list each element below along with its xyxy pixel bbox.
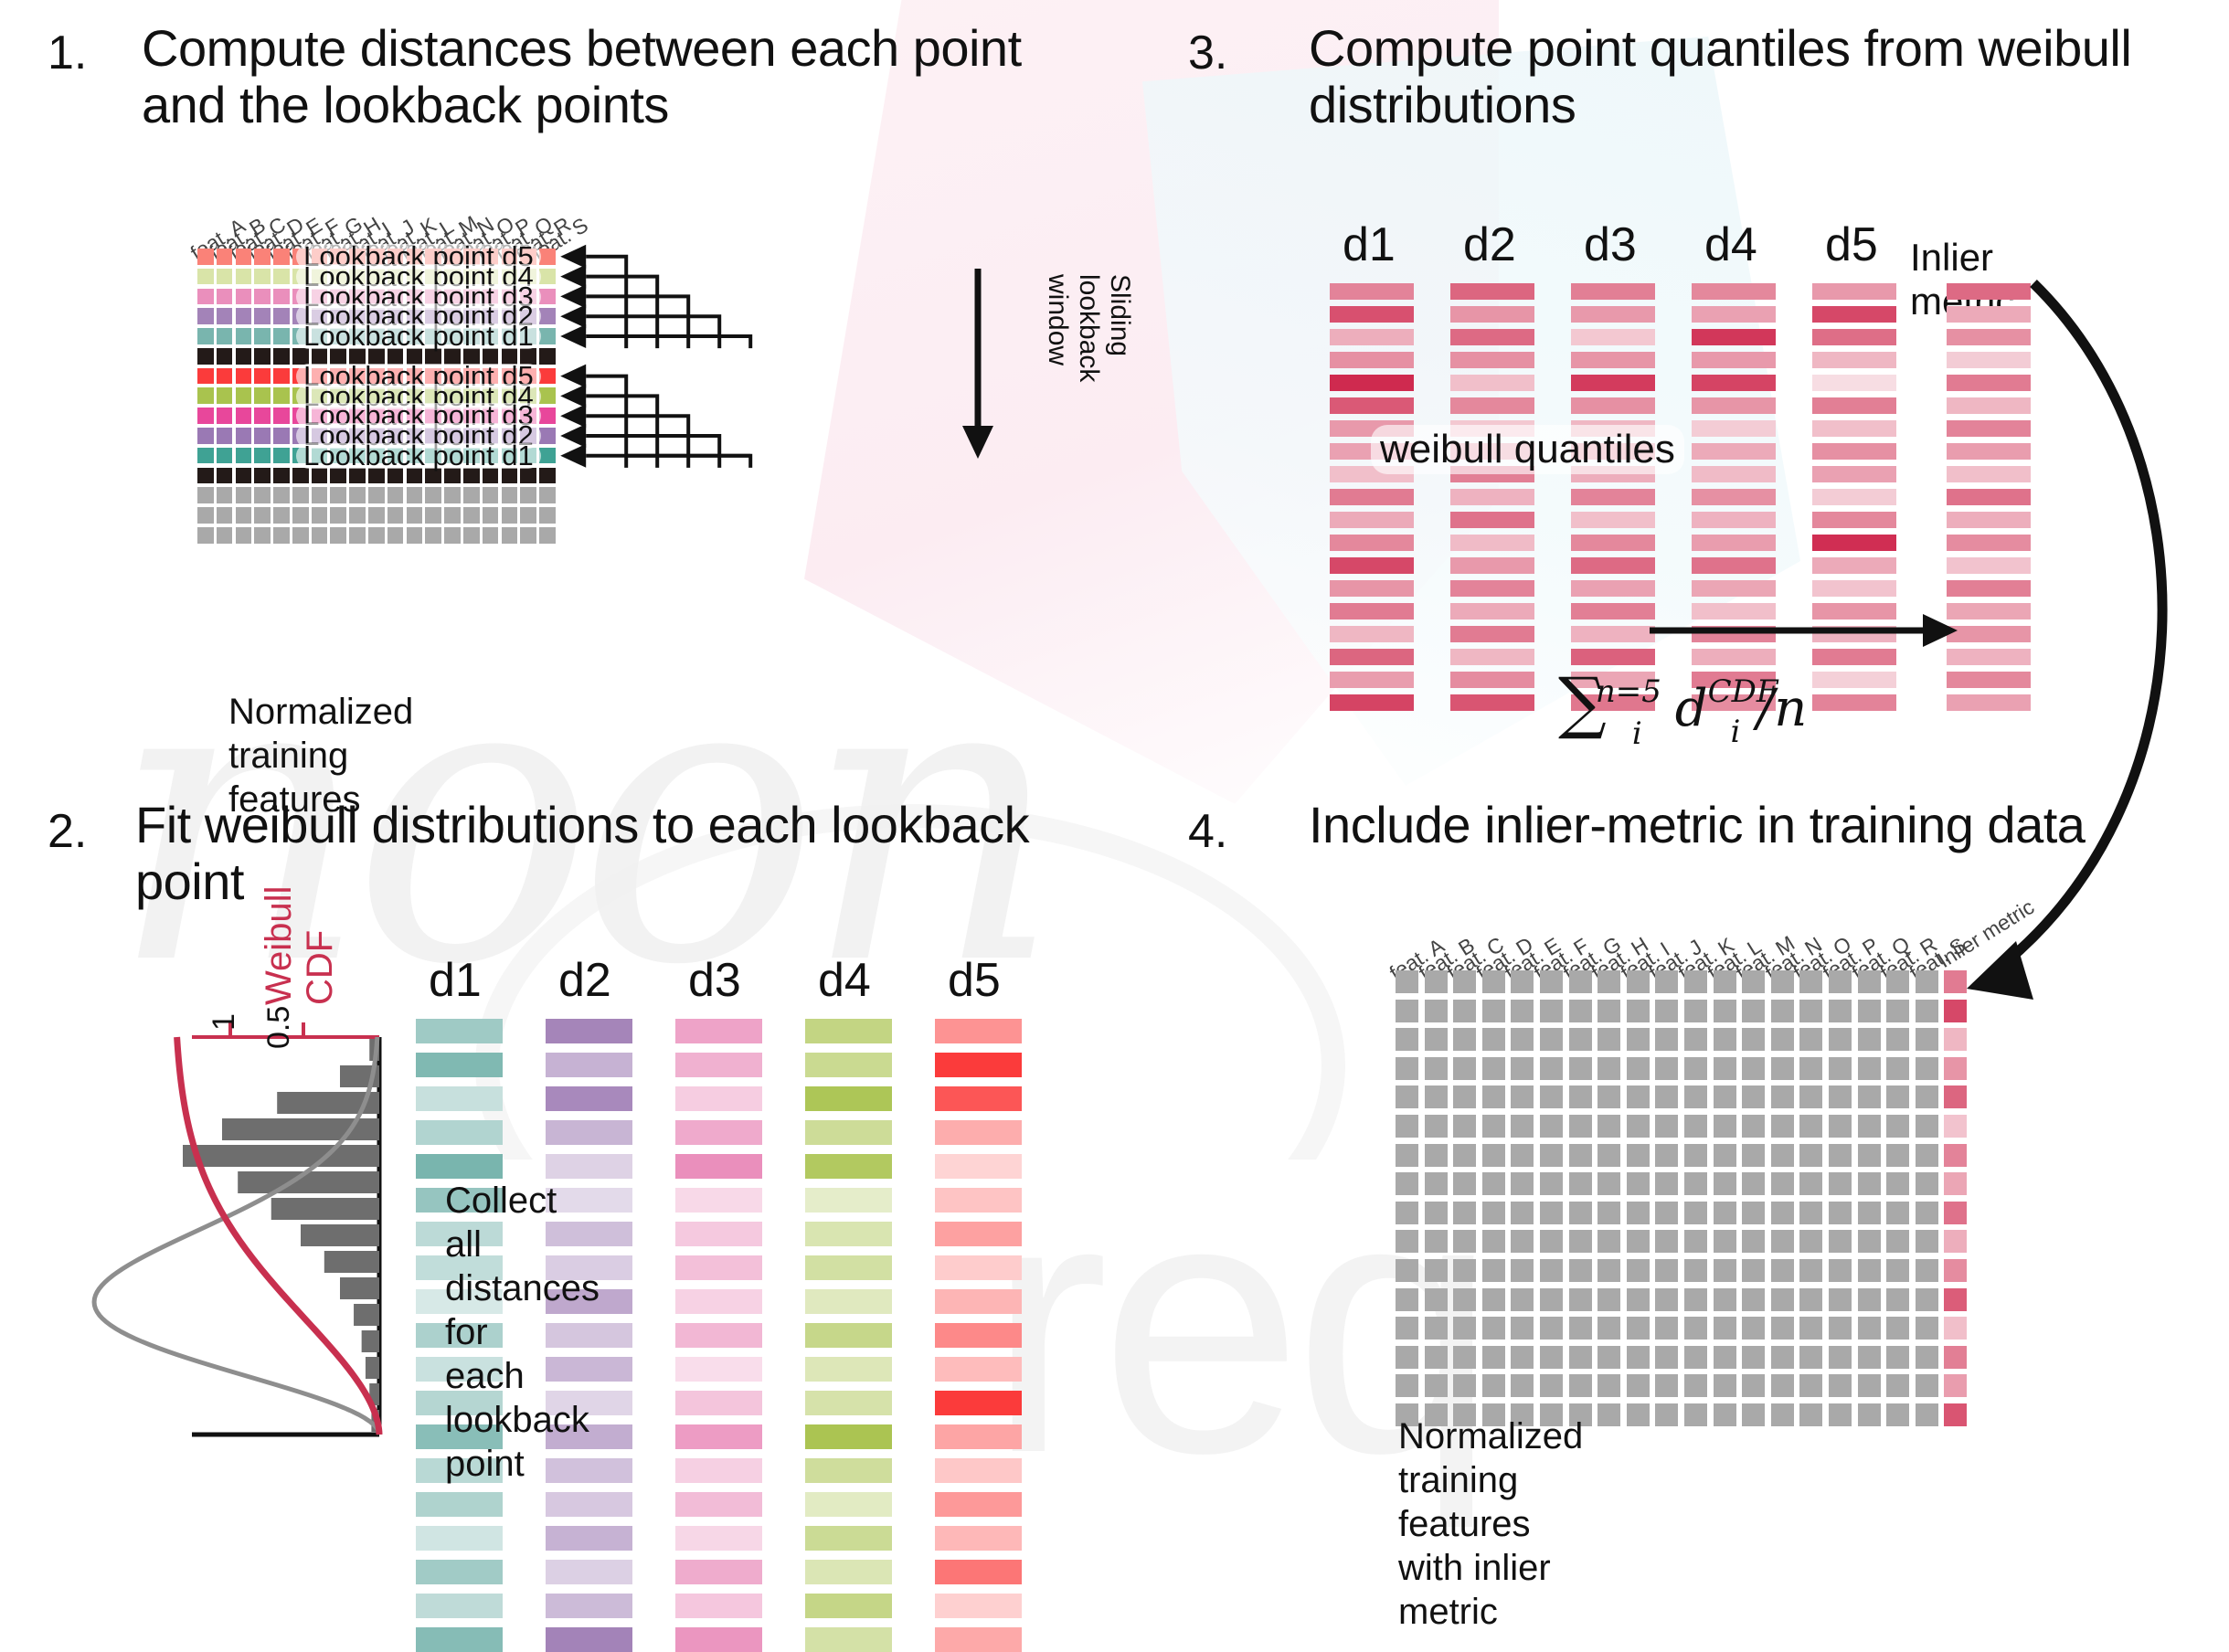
panel4-feature-cell [1771, 1230, 1794, 1253]
panel4-feature-cell [1425, 1346, 1448, 1369]
panel4-matrix-row [1396, 970, 1967, 993]
inlier-formula: ∑n=5idCDFi/n [1558, 663, 1807, 742]
panel4-feature-cell [1655, 1288, 1678, 1311]
panel4-feature-cell [1597, 1028, 1620, 1051]
panel1-matrix-cell [273, 308, 290, 324]
panel4-feature-cell [1396, 1288, 1418, 1311]
panel2-distance-cell [546, 1120, 632, 1145]
panel4-feature-cell [1799, 1317, 1822, 1340]
panel1-matrix-cell [236, 269, 252, 285]
panel4-feature-cell [1684, 1000, 1707, 1022]
panel4-feature-cell [1627, 1346, 1650, 1369]
panel2-distance-cell [675, 1154, 762, 1179]
panel4-feature-cell [1540, 1085, 1563, 1108]
panel4-feature-cell [1714, 1085, 1736, 1108]
panel1-matrix-cell [539, 487, 556, 503]
panel3-quantile-cell [1571, 329, 1655, 345]
panel4-feature-cell [1829, 1028, 1852, 1051]
panel2-distance-cell [805, 1560, 892, 1584]
panel4-feature-cell [1511, 1259, 1534, 1282]
panel4-feature-cell [1714, 1057, 1736, 1080]
panel4-feature-cell [1684, 1374, 1707, 1397]
panel1-matrix-cell [197, 368, 214, 385]
panel3-quantile-cell [1692, 375, 1776, 391]
panel4-feature-cell [1627, 1172, 1650, 1195]
panel4-feature-cell [1916, 1403, 1938, 1426]
panel1-matrix-cell [273, 507, 290, 524]
panel4-caption: Normalized training features with inlier… [1398, 1414, 1583, 1634]
panel1-matrix-cell [217, 487, 233, 503]
panel3-quantile-cell [1450, 557, 1534, 574]
panel2-distance-cell [935, 1526, 1022, 1551]
panel1-matrix-cell [539, 527, 556, 544]
panel1-matrix-cell [273, 468, 290, 484]
panel4-feature-cell [1627, 970, 1650, 993]
panel2-distance-cell [675, 1458, 762, 1483]
panel2-d-label: d5 [948, 953, 1001, 1008]
panel4-feature-cell [1655, 1000, 1678, 1022]
panel2-distance-cell [935, 1357, 1022, 1382]
panel4-inlier-cell [1944, 1028, 1967, 1051]
panel4-feature-cell [1540, 1230, 1563, 1253]
panel1-matrix-cell [444, 507, 461, 524]
panel1-matrix-cell [539, 428, 556, 444]
panel4-matrix-row [1396, 1288, 1967, 1311]
panel4-feature-cell [1482, 1057, 1505, 1080]
panel3-inlier-cell [1947, 580, 2031, 597]
panel2-d-label: d2 [558, 953, 611, 1008]
panel4-feature-cell [1886, 1057, 1909, 1080]
panel2-distance-cell [805, 1289, 892, 1314]
panel1-matrix-cell [254, 487, 271, 503]
panel1-matrix-cell [520, 487, 536, 503]
panel4-feature-cell [1511, 1000, 1534, 1022]
panel3-quantile-cell [1330, 489, 1414, 505]
panel1-matrix-cell [254, 428, 271, 444]
panel4-feature-cell [1425, 1374, 1448, 1397]
panel3-quantile-cell [1571, 557, 1655, 574]
panel3-quantile-cell [1450, 283, 1534, 300]
panel4-feature-cell [1742, 1403, 1765, 1426]
panel4-feature-cell [1453, 1000, 1476, 1022]
panel4-feature-cell [1916, 1259, 1938, 1282]
panel3-quantile-cell [1812, 626, 1896, 642]
panel4-feature-cell [1799, 1115, 1822, 1138]
panel3-d-label: d1 [1343, 217, 1396, 272]
panel4-inlier-cell [1944, 1317, 1967, 1340]
panel2-distance-cell [935, 1255, 1022, 1280]
panel1-matrix-cell [217, 507, 233, 524]
panel4-feature-cell [1829, 1057, 1852, 1080]
panel2-distance-cell [546, 1627, 632, 1652]
panel4-feature-cell [1742, 1230, 1765, 1253]
panel4-feature-cell [1714, 1317, 1736, 1340]
panel4-feature-cell [1627, 1230, 1650, 1253]
panel4-feature-cell [1771, 1288, 1794, 1311]
panel4-feature-cell [1655, 1346, 1678, 1369]
panel3-quantile-cell [1450, 535, 1534, 551]
panel3-quantile-cell [1571, 352, 1655, 368]
panel4-feature-cell [1771, 1028, 1794, 1051]
panel3-inlier-cell [1947, 649, 2031, 665]
panel4-feature-cell [1482, 1230, 1505, 1253]
panel3-quantile-cell [1692, 557, 1776, 574]
panel2-distance-cell [675, 1323, 762, 1348]
panel4-feature-cell [1597, 1172, 1620, 1195]
weibull-quantiles-label: weibull quantiles [1371, 425, 1684, 474]
panel4-feature-cell [1655, 1403, 1678, 1426]
panel1-matrix-cell [539, 368, 556, 385]
panel4-feature-cell [1482, 1317, 1505, 1340]
panel3-quantile-cell [1812, 443, 1896, 460]
panel3-quantile-cell [1571, 626, 1655, 642]
panel4-feature-cell [1771, 1057, 1794, 1080]
panel2-distance-cell [805, 1526, 892, 1551]
panel4-feature-cell [1425, 1288, 1448, 1311]
panel1-matrix-cell [349, 527, 366, 544]
panel1-matrix-cell [254, 289, 271, 305]
panel1-matrix-cell [254, 527, 271, 544]
panel4-feature-cell [1655, 1172, 1678, 1195]
panel4-feature-cell [1482, 1346, 1505, 1369]
panel1-matrix-cell [236, 428, 252, 444]
panel4-feature-cell [1916, 970, 1938, 993]
panel4-feature-cell [1829, 1085, 1852, 1108]
panel4-matrix [1396, 970, 1967, 1433]
panel1-matrix-cell [236, 308, 252, 324]
panel4-feature-cell [1916, 1085, 1938, 1108]
panel4-feature-cell [1655, 1202, 1678, 1224]
panel4-feature-cell [1453, 1230, 1476, 1253]
panel2-distance-cell [805, 1188, 892, 1213]
panel4-feature-cell [1684, 1144, 1707, 1167]
panel4-feature-cell [1714, 1403, 1736, 1426]
panel2-distance-cell [935, 1458, 1022, 1483]
panel4-feature-cell [1597, 1259, 1620, 1282]
panel4-feature-cell [1453, 970, 1476, 993]
panel4-feature-cell [1627, 1374, 1650, 1397]
panel4-inlier-cell [1944, 1202, 1967, 1224]
panel4-feature-cell [1858, 1202, 1881, 1224]
step-1-title: Compute distances between each point and… [142, 20, 1110, 133]
panel3-inlier-cell [1947, 694, 2031, 711]
panel3-quantile-cell [1330, 352, 1414, 368]
panel1-matrix-cell [483, 507, 499, 524]
panel4-feature-cell [1569, 1085, 1592, 1108]
panel4-feature-cell [1858, 1000, 1881, 1022]
panel1-matrix-cell [407, 507, 423, 524]
panel4-feature-cell [1655, 1374, 1678, 1397]
panel4-feature-cell [1597, 1230, 1620, 1253]
panel4-feature-cell [1916, 1317, 1938, 1340]
panel4-feature-cell [1886, 1346, 1909, 1369]
panel4-feature-cell [1425, 1317, 1448, 1340]
panel4-feature-cell [1771, 1202, 1794, 1224]
panel4-feature-cell [1655, 1230, 1678, 1253]
panel4-feature-cell [1540, 1115, 1563, 1138]
panel4-feature-cell [1886, 1259, 1909, 1282]
panel4-feature-cell [1511, 1085, 1534, 1108]
panel4-feature-cell [1799, 1346, 1822, 1369]
panel4-feature-cell [1425, 970, 1448, 993]
panel4-feature-cell [1742, 1346, 1765, 1369]
panel1-matrix-cell [254, 368, 271, 385]
panel1-matrix-cell [312, 487, 328, 503]
panel4-feature-cell [1684, 1288, 1707, 1311]
panel2-distance-cell [805, 1053, 892, 1077]
panel4-feature-cell [1425, 1085, 1448, 1108]
panel4-feature-cell [1714, 1374, 1736, 1397]
panel4-feature-cell [1684, 1057, 1707, 1080]
panel4-feature-cell [1453, 1259, 1476, 1282]
panel4-feature-cell [1714, 1028, 1736, 1051]
panel4-feature-cell [1829, 1115, 1852, 1138]
panel2-distance-cell [935, 1594, 1022, 1618]
panel4-feature-cell [1396, 1115, 1418, 1138]
panel1-matrix-cell [520, 507, 536, 524]
panel4-feature-cell [1569, 1172, 1592, 1195]
panel4-feature-cell [1742, 1000, 1765, 1022]
panel3-quantile-cell [1450, 603, 1534, 619]
panel4-feature-cell [1482, 970, 1505, 993]
panel1-matrix-cell [502, 527, 518, 544]
panel4-feature-cell [1655, 1144, 1678, 1167]
panel3-inlier-cell [1947, 672, 2031, 688]
panel3-quantile-cell [1450, 397, 1534, 414]
panel4-matrix-row [1396, 1317, 1967, 1340]
panel1-matrix-cell [273, 328, 290, 344]
panel1-matrix-cell [273, 527, 290, 544]
panel3-quantile-cell [1812, 283, 1896, 300]
panel4-feature-cell [1396, 1259, 1418, 1282]
panel2-distance-cell [805, 1323, 892, 1348]
panel2-distance-cell [416, 1019, 503, 1043]
panel4-feature-cell [1886, 1028, 1909, 1051]
panel1-matrix-cell [502, 487, 518, 503]
panel3-quantile-cell [1571, 512, 1655, 528]
panel2-distance-cell [805, 1627, 892, 1652]
panel4-feature-cell [1916, 1346, 1938, 1369]
panel4-feature-cell [1714, 1288, 1736, 1311]
panel4-feature-cell [1799, 1230, 1822, 1253]
panel4-feature-cell [1829, 1202, 1852, 1224]
weibull-cdf-axis-label: Weibull CDF [259, 886, 341, 1005]
panel4-feature-cell [1425, 1230, 1448, 1253]
panel4-feature-cell [1742, 1144, 1765, 1167]
panel4-feature-cell [1569, 1115, 1592, 1138]
panel4-feature-cell [1540, 1028, 1563, 1051]
panel4-feature-cell [1684, 1172, 1707, 1195]
panel1-matrix-cell [273, 408, 290, 424]
panel4-matrix-row [1396, 1000, 1967, 1022]
panel1-matrix-cell [197, 308, 214, 324]
panel3-quantile-cell [1330, 535, 1414, 551]
panel4-feature-cell [1597, 1346, 1620, 1369]
panel3-quantile-cell [1450, 306, 1534, 323]
panel3-quantile-cell [1692, 512, 1776, 528]
panel4-feature-cell [1714, 1000, 1736, 1022]
panel1-matrix-cell [425, 487, 441, 503]
panel2-distance-cell [675, 1222, 762, 1246]
panel4-feature-cell [1829, 1317, 1852, 1340]
panel4-feature-cell [1540, 1144, 1563, 1167]
panel4-feature-cell [1396, 1172, 1418, 1195]
panel2-distance-cell [416, 1627, 503, 1652]
panel1-matrix-cell [407, 527, 423, 544]
panel1-matrix-cell [217, 348, 233, 365]
panel4-feature-cell [1858, 1374, 1881, 1397]
panel4-feature-cell [1597, 1288, 1620, 1311]
panel3-quantile-cell [1571, 397, 1655, 414]
panel4-feature-cell [1453, 1317, 1476, 1340]
panel4-feature-cell [1597, 1144, 1620, 1167]
panel3-quantile-cell [1450, 672, 1534, 688]
panel3-quantile-cell [1330, 580, 1414, 597]
panel1-matrix-cell [236, 289, 252, 305]
panel2-distance-cell [675, 1627, 762, 1652]
panel4-feature-cell [1886, 1403, 1909, 1426]
panel2-distance-cell [546, 1019, 632, 1043]
panel3-quantile-cell [1692, 580, 1776, 597]
panel1-matrix-row [197, 487, 558, 503]
panel4-feature-cell [1655, 1085, 1678, 1108]
panel3-quantile-cell [1330, 649, 1414, 665]
panel4-matrix-row [1396, 1172, 1967, 1195]
panel2-distance-cell [675, 1086, 762, 1111]
panel2-distance-cell [416, 1120, 503, 1145]
panel1-matrix-cell [217, 448, 233, 464]
panel4-feature-cell [1829, 1346, 1852, 1369]
panel2-distance-cell [675, 1289, 762, 1314]
panel4-matrix-row [1396, 1202, 1967, 1224]
panel4-feature-cell [1799, 1028, 1822, 1051]
panel1-matrix-cell [254, 348, 271, 365]
panel4-feature-cell [1799, 1259, 1822, 1282]
panel4-feature-cell [1858, 970, 1881, 993]
panel2-distance-cell [675, 1188, 762, 1213]
panel1-matrix-cell [236, 348, 252, 365]
panel2-distance-cell [675, 1560, 762, 1584]
panel4-matrix-row [1396, 1346, 1967, 1369]
panel4-feature-cell [1511, 1230, 1534, 1253]
panel1-matrix-cell [254, 507, 271, 524]
panel4-feature-cell [1858, 1230, 1881, 1253]
panel2-distance-cell [675, 1019, 762, 1043]
panel1-matrix-cell [539, 308, 556, 324]
panel1-matrix-cell [463, 507, 480, 524]
panel1-matrix-cell [197, 428, 214, 444]
panel1-matrix-cell [254, 408, 271, 424]
panel2-distance-cell [935, 1627, 1022, 1652]
panel2-distance-cell [546, 1492, 632, 1517]
panel4-feature-cell [1858, 1028, 1881, 1051]
panel4-feature-cell [1627, 1057, 1650, 1080]
panel4-feature-cell [1396, 1028, 1418, 1051]
panel4-feature-cell [1771, 1144, 1794, 1167]
panel1-matrix-cell [292, 507, 309, 524]
panel4-feature-cell [1511, 1317, 1534, 1340]
panel4-feature-cell [1799, 1288, 1822, 1311]
panel1-matrix-cell [236, 527, 252, 544]
panel4-feature-cell [1396, 1374, 1418, 1397]
panel4-inlier-cell [1944, 970, 1967, 993]
panel1-matrix-cell [254, 249, 271, 265]
panel4-feature-cell [1540, 1374, 1563, 1397]
panel2-distance-cell [546, 1594, 632, 1618]
panel1-matrix-cell [292, 487, 309, 503]
panel4-feature-cell [1742, 1172, 1765, 1195]
panel3-quantile-cell [1450, 694, 1534, 711]
panel4-feature-cell [1396, 1230, 1418, 1253]
panel4-feature-cell [1684, 1259, 1707, 1282]
panel1-matrix-cell [217, 428, 233, 444]
panel4-feature-cell [1425, 1028, 1448, 1051]
panel3-quantile-cell [1812, 352, 1896, 368]
panel4-feature-cell [1829, 1144, 1852, 1167]
panel2-distance-cell [805, 1154, 892, 1179]
panel3-inlier-cell [1947, 283, 2031, 300]
panel2-distance-cell [675, 1120, 762, 1145]
panel4-feature-cell [1453, 1144, 1476, 1167]
panel1-matrix-cell [217, 308, 233, 324]
panel4-feature-cell [1569, 1374, 1592, 1397]
panel4-feature-cell [1569, 1057, 1592, 1080]
panel3-inlier-cell [1947, 375, 2031, 391]
panel4-feature-cell [1425, 1172, 1448, 1195]
panel4-feature-cell [1482, 1000, 1505, 1022]
panel2-distance-cell [935, 1492, 1022, 1517]
panel3-quantile-cell [1330, 626, 1414, 642]
panel1-matrix-cell [520, 527, 536, 544]
panel4-feature-cell [1396, 1144, 1418, 1167]
panel4-inlier-cell [1944, 1000, 1967, 1022]
panel4-feature-cell [1742, 1288, 1765, 1311]
panel1-matrix-cell [254, 468, 271, 484]
panel2-distance-cell [546, 1086, 632, 1111]
panel1-matrix-cell [407, 487, 423, 503]
panel4-feature-cell [1482, 1028, 1505, 1051]
panel4-feature-cell [1655, 1057, 1678, 1080]
panel4-feature-cell [1396, 1317, 1418, 1340]
panel3-quantile-cell [1812, 535, 1896, 551]
panel4-feature-cell [1655, 1115, 1678, 1138]
panel1-matrix-cell [273, 368, 290, 385]
panel2-distance-cell [675, 1357, 762, 1382]
panel4-feature-cell [1425, 1202, 1448, 1224]
panel1-matrix-cell [502, 507, 518, 524]
panel1-matrix-cell [368, 507, 385, 524]
panel4-feature-cell [1597, 1000, 1620, 1022]
panel4-inlier-cell [1944, 1346, 1967, 1369]
panel4-inlier-cell [1944, 1144, 1967, 1167]
panel3-quantile-cell [1812, 420, 1896, 437]
panel4-feature-cell [1540, 1000, 1563, 1022]
panel4-matrix-row [1396, 1230, 1967, 1253]
panel4-feature-cell [1627, 1000, 1650, 1022]
panel1-matrix-cell [217, 527, 233, 544]
panel1-matrix-cell [539, 328, 556, 344]
panel4-feature-cell [1540, 1202, 1563, 1224]
panel2-distance-cell [935, 1424, 1022, 1449]
step-3-number: 3. [1188, 26, 1227, 80]
panel3-quantile-cell [1692, 329, 1776, 345]
panel4-feature-cell [1714, 1172, 1736, 1195]
panel4-feature-cell [1569, 1202, 1592, 1224]
panel3-d-label: d4 [1704, 217, 1757, 272]
panel4-feature-cell [1569, 1317, 1592, 1340]
panel3-d-label: d3 [1584, 217, 1637, 272]
panel1-matrix-cell [273, 289, 290, 305]
